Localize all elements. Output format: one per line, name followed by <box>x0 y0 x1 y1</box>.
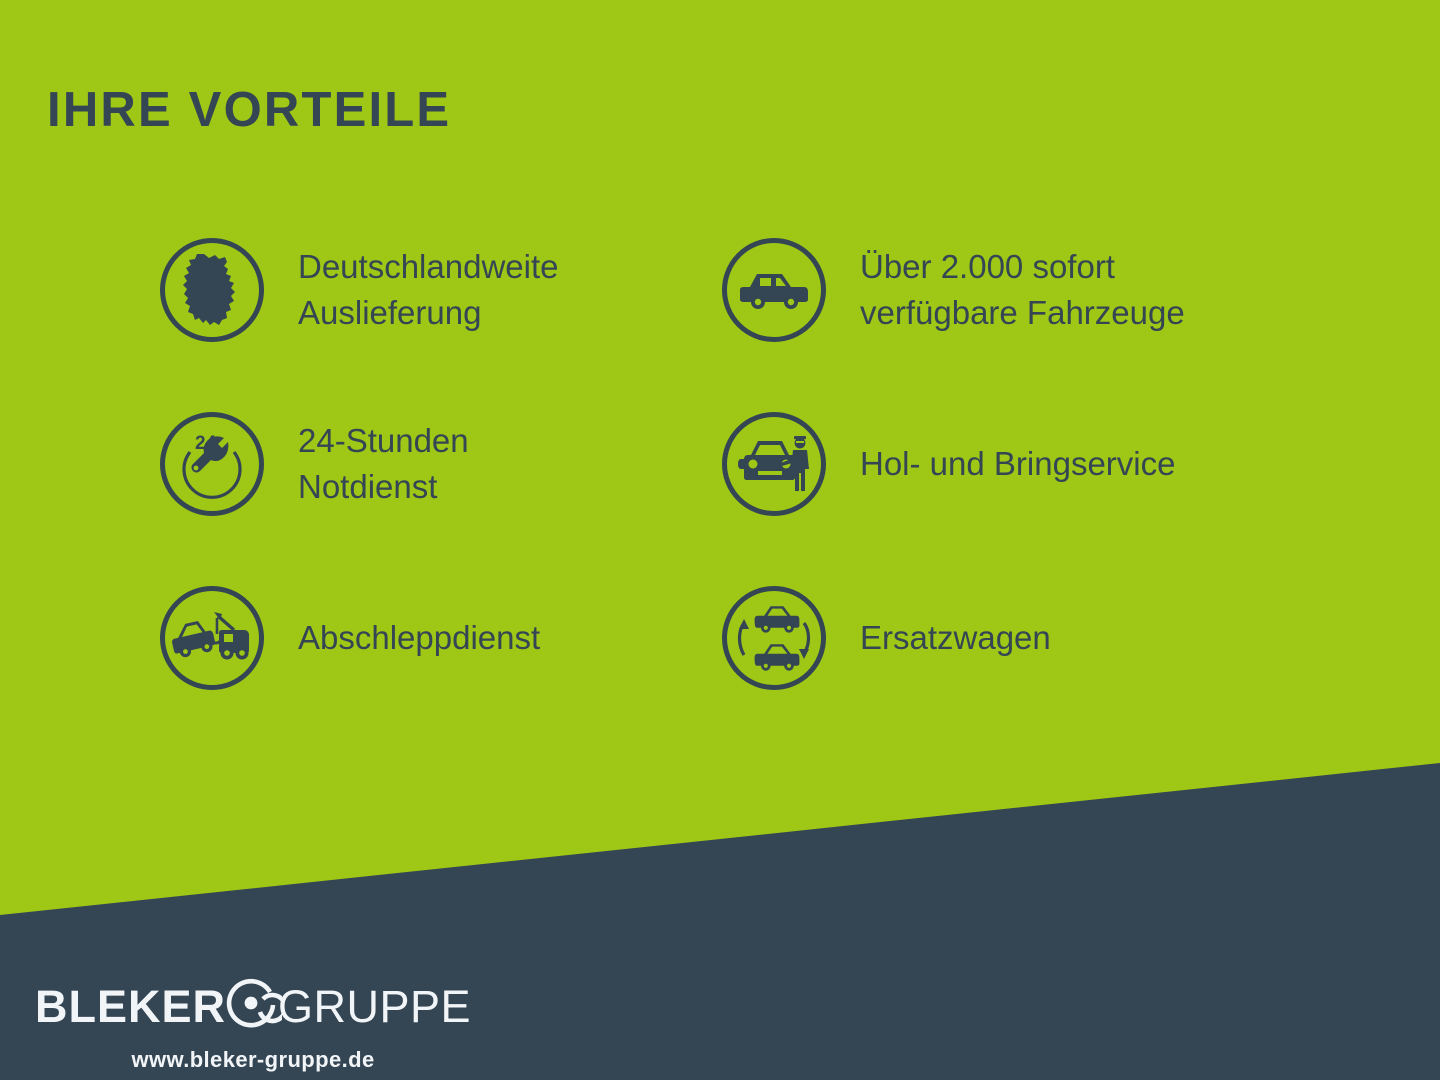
logo-website-url: www.bleker-gruppe.de <box>131 1047 374 1073</box>
car-with-driver-icon <box>722 412 826 516</box>
benefits-list: Deutschlandweite Auslieferung Über 2.000… <box>0 0 1440 780</box>
24-hour-wrench-icon: 24 <box>160 412 264 516</box>
list-item-label: Über 2.000 sofort verfügbare Fahrzeuge <box>860 244 1185 335</box>
logo-brand-bold: BLEKER <box>35 984 226 1029</box>
list-item-label: 24-Stunden Notdienst <box>298 418 469 509</box>
logo-wordmark: BLEKER GRUPPE <box>35 975 471 1037</box>
list-item-label: Abschleppdienst <box>298 615 540 661</box>
logo-brand-light: GRUPPE <box>278 984 471 1029</box>
list-item: Über 2.000 sofort verfügbare Fahrzeuge <box>722 238 1185 342</box>
list-item-label: Hol- und Bringservice <box>860 441 1175 487</box>
two-cars-exchange-icon <box>722 586 826 690</box>
list-item: Abschleppdienst <box>160 586 540 690</box>
list-item: Deutschlandweite Auslieferung <box>160 238 559 342</box>
list-item: Hol- und Bringservice <box>722 412 1175 516</box>
list-item-label: Ersatzwagen <box>860 615 1051 661</box>
list-item: Ersatzwagen <box>722 586 1051 690</box>
list-item: 24 24-Stunden Notdienst <box>160 412 469 516</box>
brand-logo[interactable]: BLEKER GRUPPE www.bleker-gruppe.de <box>35 975 471 1073</box>
spiral-icon <box>220 972 282 1034</box>
tow-truck-icon <box>160 586 264 690</box>
slide-canvas: IHRE VORTEILE Deutschlandweite Ausliefer… <box>0 0 1440 1080</box>
list-item-label: Deutschlandweite Auslieferung <box>298 244 559 335</box>
car-side-icon <box>722 238 826 342</box>
germany-map-icon <box>160 238 264 342</box>
